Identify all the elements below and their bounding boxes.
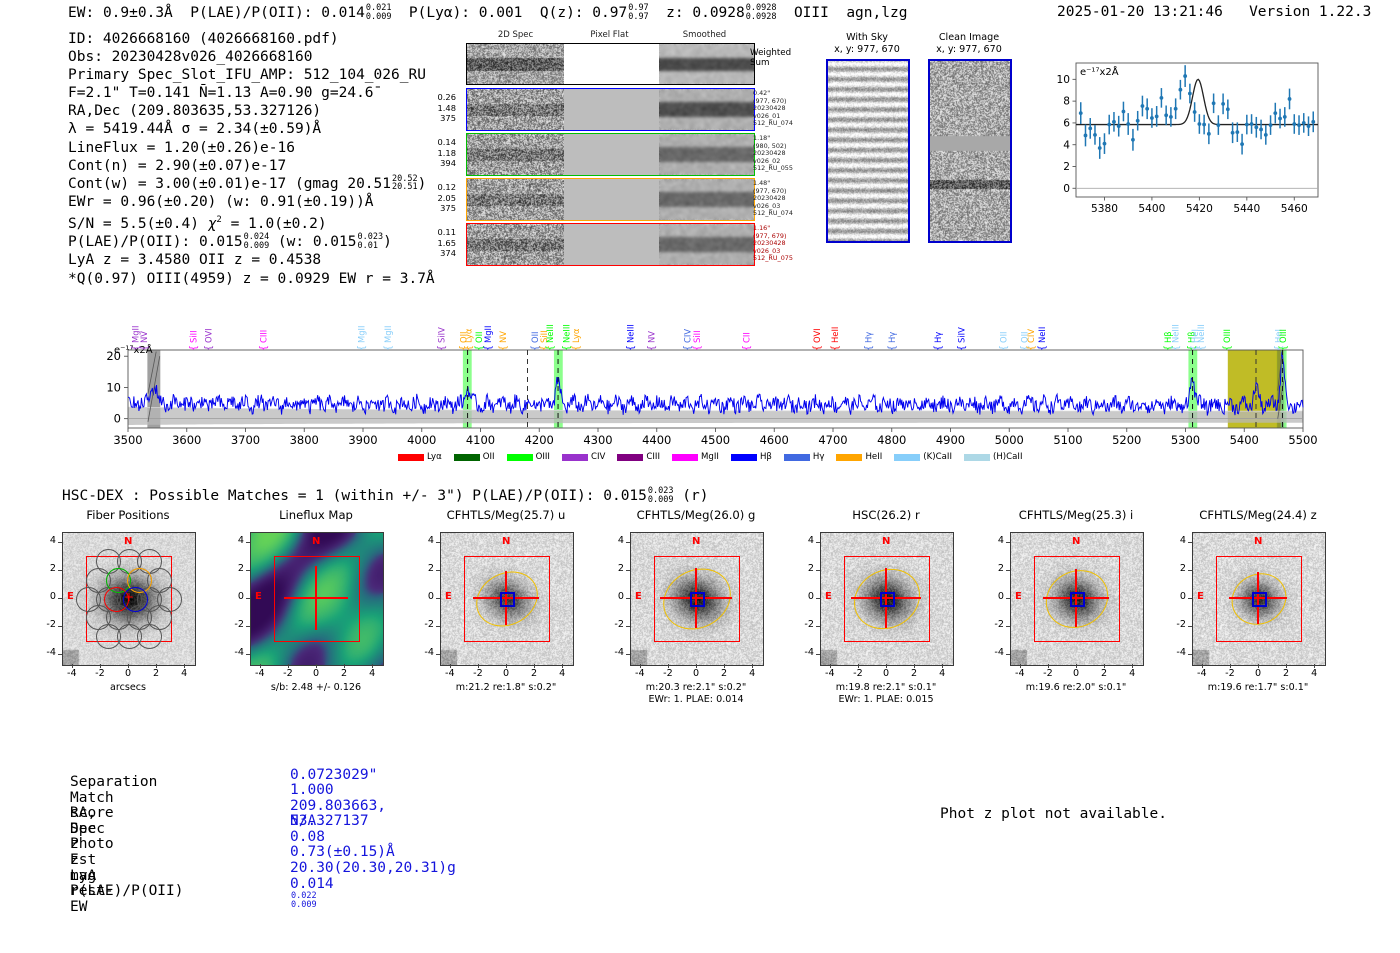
cutout-xtick: -2	[848, 668, 868, 679]
tick-mark	[626, 542, 630, 543]
col-header-2dspec: 2D Spec	[468, 30, 563, 40]
tick-mark	[626, 598, 630, 599]
cutout-caption-line1: m:19.6 re:2.0" s:0.1"	[984, 682, 1169, 694]
cutout-ytick: 0	[38, 591, 56, 602]
svg-text:3800: 3800	[290, 433, 319, 447]
svg-text:5420: 5420	[1186, 203, 1213, 215]
tick-mark	[696, 664, 697, 668]
svg-text:4: 4	[1063, 139, 1070, 151]
tick-mark	[436, 598, 440, 599]
legend-label: (H)CaII	[993, 452, 1023, 462]
tick-mark	[184, 664, 185, 668]
plae-label: P(LAE)/P(OII):	[190, 5, 312, 21]
cutout-panel: CFHTLS/Meg(25.7) uNE-4-2024420-2-4m:21.2…	[440, 532, 572, 724]
z-value: 0.0928	[692, 5, 744, 21]
target-marker	[690, 592, 705, 607]
emission-line-label: NV	[647, 331, 657, 343]
cutout-caption: m:20.3 re:2.1" s:0.2"EWr: 1. PLAE: 0.014	[604, 682, 789, 706]
info-cont-w: Cont(w) = 3.00(±0.01)e-17 (gmag 20.5120.…	[68, 175, 435, 193]
tick-mark	[72, 664, 73, 668]
tick-mark	[914, 664, 915, 668]
tick-mark	[246, 542, 250, 543]
flags: agn,lzg	[846, 5, 907, 21]
cutout-xtick: 4	[1122, 668, 1142, 679]
tick-mark	[1006, 598, 1010, 599]
svg-text:3900: 3900	[348, 433, 377, 447]
tick-mark	[562, 664, 563, 668]
tick-mark	[156, 664, 157, 668]
tick-mark	[316, 664, 317, 668]
match-table-value: 0.0140.0220.009	[290, 877, 334, 910]
with-sky-image	[826, 59, 910, 243]
cutout-title: HSC(26.2) r	[798, 508, 974, 522]
tick-mark	[478, 664, 479, 668]
target-marker	[1252, 592, 1267, 607]
info-cont-n: Cont(n) = 2.90(±0.07)e-17	[68, 157, 435, 175]
svg-text:5000: 5000	[995, 433, 1024, 447]
cutout-panel: CFHTLS/Meg(25.3) iNE-4-2024420-2-4m:19.6…	[1010, 532, 1142, 724]
cutout-ytick: 0	[416, 591, 434, 602]
info-ewr: EWr = 0.96(±0.20) (w: 0.91(±0.19))Å	[68, 193, 435, 211]
tick-mark	[506, 664, 507, 668]
cutout-xtick: 2	[714, 668, 734, 679]
cutout-title: CFHTLS/Meg(24.4) z	[1170, 508, 1346, 522]
cutout-ytick: 4	[1168, 535, 1186, 546]
plae-value: 0.014	[321, 5, 365, 21]
cutout-xtick: 2	[146, 668, 166, 679]
svg-text:4800: 4800	[877, 433, 906, 447]
emission-line-label: NV	[139, 331, 149, 343]
spec2d-fiber-row	[466, 88, 755, 131]
tick-mark	[1132, 664, 1133, 668]
hsc-plae-errors: 0.0230.009	[648, 487, 674, 504]
fiber-row-meta: 1.18"(980, 502)20230428v026_02512_RU_055	[753, 135, 803, 173]
cutout-xtick: -2	[1038, 668, 1058, 679]
tick-mark	[246, 626, 250, 627]
emission-line-label: NeIII	[1171, 324, 1181, 343]
fiber-number: 2.05	[430, 193, 456, 204]
fiber-number: 0.12	[430, 182, 456, 193]
fiber-meta-line: 512_RU_055	[753, 165, 803, 173]
tick-mark	[1188, 654, 1192, 655]
fiber-meta-line: 512_RU_075	[753, 255, 803, 263]
cutout-ytick: -4	[1168, 647, 1186, 658]
legend-swatch	[507, 454, 533, 461]
cutout-title: CFHTLS/Meg(25.7) u	[418, 508, 594, 522]
emission-line-label: MgII	[483, 326, 493, 343]
svg-text:0: 0	[114, 412, 121, 426]
cutout-caption-line1: m:19.6 re:1.7" s:0.1"	[1166, 682, 1351, 694]
cutout-ytick: 2	[796, 563, 814, 574]
info-lineflux: LineFlux = 1.20(±0.26)e-16	[68, 139, 435, 157]
cutout-ytick: 0	[986, 591, 1004, 602]
tick-mark	[436, 570, 440, 571]
line-brace: {	[933, 345, 944, 351]
line-brace: {	[204, 345, 215, 351]
tick-mark	[816, 654, 820, 655]
compass-north: N	[312, 536, 320, 547]
cutout-ytick: 4	[38, 535, 56, 546]
cutout-xtick: -4	[250, 668, 270, 679]
plae-errors-detail: 0.0240.009	[244, 233, 270, 250]
crosshair-horizontal	[284, 597, 348, 598]
tick-mark	[58, 570, 62, 571]
cutout-caption: arcsecs	[36, 682, 221, 694]
tick-mark	[1188, 598, 1192, 599]
fiber-number: 0.11	[430, 227, 456, 238]
hsc-dex-line: HSC-DEX : Possible Matches = 1 (within +…	[62, 487, 708, 504]
legend-entry: Hγ	[784, 452, 825, 462]
svg-text:4000: 4000	[407, 433, 436, 447]
tick-mark	[1048, 664, 1049, 668]
fiber-number: 375	[430, 113, 456, 124]
tick-mark	[752, 664, 753, 668]
z-errors: 0.09280.0928	[746, 4, 777, 21]
svg-text:5400: 5400	[1138, 203, 1165, 215]
info-sn: S/N = 5.5(±0.4) χ2 = 1.0(±0.2)	[68, 211, 435, 233]
fiber-row-numbers: 0.122.05375	[430, 182, 456, 214]
cutout-caption-line1: m:20.3 re:2.1" s:0.2"	[604, 682, 789, 694]
cutout-ytick: 2	[1168, 563, 1186, 574]
tick-mark	[260, 664, 261, 668]
line-brace: {	[188, 345, 199, 351]
line-brace: {	[741, 345, 752, 351]
col-header-smoothed: Smoothed	[657, 30, 752, 40]
compass-north: N	[502, 536, 510, 547]
target-plus-marker: +	[124, 590, 134, 604]
object-info-block: ID: 4026668160 (4026668160.pdf) Obs: 202…	[68, 30, 435, 288]
tick-mark	[724, 664, 725, 668]
line-brace: {	[647, 345, 658, 351]
tick-mark	[246, 654, 250, 655]
legend-entry: CIV	[562, 452, 605, 462]
cutout-xtick: 4	[932, 668, 952, 679]
cutout-xtick: -2	[278, 668, 298, 679]
fiber-number: 0.26	[430, 92, 456, 103]
info-seeing: F=2.1" T=0.141 N̄=1.1̄3 A=0.9̄0 g=24.6̄	[68, 84, 435, 102]
plae-w-errors: 0.0230.01	[358, 233, 384, 250]
legend-label: Lyα	[427, 452, 442, 462]
match-table-value: 0.73(±0.15)Å	[290, 845, 395, 861]
cutout-ytick: -2	[796, 619, 814, 630]
tick-mark	[246, 598, 250, 599]
fiber-meta-line: 512_RU_074	[753, 120, 803, 128]
cutout-ytick: -2	[226, 619, 244, 630]
tick-mark	[436, 542, 440, 543]
legend-entry: (K)CaII	[894, 452, 952, 462]
cutout-ytick: -2	[1168, 619, 1186, 630]
cutout-title: Lineflux Map	[228, 508, 404, 522]
tick-mark	[886, 664, 887, 668]
full-spectrum-chart: 0102035003600370038003900400041004200430…	[0, 278, 1400, 478]
cutout-caption: m:19.6 re:1.7" s:0.1"	[1166, 682, 1351, 694]
emission-line-label: NeIII	[545, 324, 555, 343]
fiber-number: 1.48	[430, 103, 456, 114]
tick-mark	[344, 664, 345, 668]
cutout-caption: m:21.2 re:1.8" s:0.2"	[414, 682, 599, 694]
legend-label: HeII	[865, 452, 882, 462]
tick-mark	[858, 664, 859, 668]
cutout-ytick: 0	[796, 591, 814, 602]
cutout-xtick: 0	[1066, 668, 1086, 679]
emission-line-label: Lyα	[571, 328, 581, 343]
legend-swatch	[672, 454, 698, 461]
tick-mark	[436, 626, 440, 627]
line-brace: {	[1171, 345, 1182, 351]
svg-text:5380: 5380	[1091, 203, 1118, 215]
cutout-ytick: -4	[226, 647, 244, 658]
fiber-circle	[137, 624, 162, 649]
cutout-caption-line2: EWr: 1. PLAE: 0.014	[604, 694, 789, 706]
cutout-panel: CFHTLS/Meg(24.4) zNE-4-2024420-2-4m:19.6…	[1192, 532, 1324, 724]
info-id: ID: 4026668160 (4026668160.pdf)	[68, 30, 435, 48]
target-marker	[1070, 592, 1085, 607]
tick-mark	[1104, 664, 1105, 668]
cutout-xtick: 0	[118, 668, 138, 679]
line-brace: {	[483, 345, 494, 351]
cutout-xtick: -4	[630, 668, 650, 679]
match-table-label: Separation	[70, 775, 157, 791]
cutout-title: CFHTLS/Meg(26.0) g	[608, 508, 784, 522]
timestamp-block: 2025-01-20 13:21:46 Version 1.22.3	[1057, 4, 1371, 20]
legend-label: (K)CaII	[923, 452, 952, 462]
emission-line-label: MgII	[383, 326, 393, 343]
tick-mark	[58, 598, 62, 599]
emission-line-label: OVI	[204, 328, 214, 343]
clean-image	[928, 59, 1012, 243]
emission-line-label: Hγ	[887, 332, 897, 343]
match-plae-errors: 0.0220.009	[291, 892, 317, 909]
match-table-value: 20.30(20.30,20.31)g	[290, 861, 456, 877]
tick-mark	[58, 654, 62, 655]
fiber-number: 1.18	[430, 148, 456, 159]
legend-swatch	[454, 454, 480, 461]
tick-mark	[372, 664, 373, 668]
line-brace: {	[1196, 345, 1207, 351]
fiber-row-meta: 1.16"(977, 679)20230428v026_03512_RU_075	[753, 225, 803, 263]
inset-flux-units: e⁻¹⁷x2Å	[1080, 65, 1119, 78]
version: Version 1.22.3	[1249, 4, 1371, 20]
legend-entry: OIII	[507, 452, 550, 462]
legend-label: OII	[483, 452, 495, 462]
tick-mark	[58, 626, 62, 627]
emission-line-label: MgII	[356, 326, 366, 343]
emission-line-label: HeII	[830, 327, 840, 343]
tick-mark	[942, 664, 943, 668]
svg-text:0: 0	[1063, 183, 1070, 195]
cutout-caption-line2: EWr: 1. PLAE: 0.015	[794, 694, 979, 706]
emission-line-label: NeIII	[1196, 324, 1206, 343]
cutout-ytick: -4	[38, 647, 56, 658]
cutout-panel: Fiber PositionsNE+-4-2024420-2-4arcsecs	[62, 532, 194, 724]
ew-value: 0.9±0.3Å	[103, 5, 173, 21]
cutout-ytick: 2	[226, 563, 244, 574]
line-brace: {	[999, 345, 1010, 351]
weighted-sum-label: Weighted Sum	[750, 48, 791, 68]
tick-mark	[816, 626, 820, 627]
emission-line-label: CIII	[258, 330, 268, 343]
emission-line-label: Hγ	[933, 332, 943, 343]
line-brace: {	[139, 345, 150, 351]
svg-text:4700: 4700	[818, 433, 847, 447]
tick-mark	[1006, 570, 1010, 571]
cutout-xtick: 0	[1248, 668, 1268, 679]
cutout-title: Fiber Positions	[40, 508, 216, 522]
compass-north: N	[882, 536, 890, 547]
legend-entry: Hβ	[731, 452, 772, 462]
line-brace: {	[571, 345, 582, 351]
emission-line-label: CIV	[1026, 329, 1036, 343]
tick-mark	[1188, 570, 1192, 571]
cutout-xtick: -2	[90, 668, 110, 679]
svg-text:4100: 4100	[466, 433, 495, 447]
z-label: z:	[666, 5, 683, 21]
plae-errors: 0.0210.009	[366, 4, 392, 21]
line-brace: {	[463, 345, 474, 351]
timestamp: 2025-01-20 13:21:46	[1057, 4, 1223, 20]
plya-value: 0.001	[479, 5, 523, 21]
tick-mark	[1230, 664, 1231, 668]
svg-text:8: 8	[1063, 96, 1070, 108]
cutout-xtick: 2	[334, 668, 354, 679]
line-brace: {	[436, 345, 447, 351]
compass-east: E	[825, 591, 832, 602]
cutout-xtick: 0	[686, 668, 706, 679]
spec2d-fiber-row	[466, 223, 755, 266]
line-brace: {	[1222, 345, 1233, 351]
svg-text:5500: 5500	[1288, 433, 1317, 447]
cutout-ytick: -4	[796, 647, 814, 658]
legend-swatch	[398, 454, 424, 461]
cutout-caption-line1: m:19.8 re:2.1" s:0.1"	[794, 682, 979, 694]
cutout-ytick: 4	[416, 535, 434, 546]
emission-line-label: NV	[498, 331, 508, 343]
fiber-meta-line: 512_RU_074	[753, 210, 803, 218]
emission-line-label: OII	[999, 331, 1009, 343]
cutout-ytick: 0	[606, 591, 624, 602]
cutout-xtick: -2	[468, 668, 488, 679]
line-brace: {	[383, 345, 394, 351]
fiber-row-numbers: 0.141.18394	[430, 137, 456, 169]
tick-mark	[1286, 664, 1287, 668]
tick-mark	[1076, 664, 1077, 668]
tick-mark	[450, 664, 451, 668]
emission-line-label: OIII	[1278, 329, 1288, 343]
match-table-value: 1.000	[290, 783, 334, 799]
tick-mark	[246, 570, 250, 571]
fiber-number: 0.14	[430, 137, 456, 148]
svg-text:4900: 4900	[936, 433, 965, 447]
cutout-ytick: 2	[606, 563, 624, 574]
spec2d-weighted-sum-row	[466, 43, 755, 85]
line-brace: {	[956, 345, 967, 351]
full-spectrum-svg: 0102035003600370038003900400041004200430…	[0, 278, 1400, 478]
svg-text:3600: 3600	[172, 433, 201, 447]
compass-east: E	[1015, 591, 1022, 602]
line-brace: {	[692, 345, 703, 351]
legend-label: CIII	[646, 452, 660, 462]
plya-label: P(Lyα):	[409, 5, 470, 21]
legend-entry: OII	[454, 452, 495, 462]
ew-label: EW:	[68, 5, 94, 21]
tick-mark	[640, 664, 641, 668]
tick-mark	[1314, 664, 1315, 668]
compass-north: N	[1254, 536, 1262, 547]
legend-label: Hγ	[813, 452, 825, 462]
match-table-value: N/A	[290, 814, 316, 830]
compass-north: N	[692, 536, 700, 547]
spec2d-fiber-row	[466, 178, 755, 221]
tick-mark	[534, 664, 535, 668]
match-table-label: mag	[70, 869, 96, 885]
legend-label: MgII	[701, 452, 719, 462]
emission-line-label: NeII	[1037, 327, 1047, 343]
tick-mark	[816, 542, 820, 543]
fiber-number: 375	[430, 203, 456, 214]
target-marker	[500, 592, 515, 607]
svg-text:3700: 3700	[231, 433, 260, 447]
qz-label: Q(z):	[540, 5, 584, 21]
cutout-panel: Lineflux MapNE-4-2024420-2-4s/b: 2.48 +/…	[250, 532, 382, 724]
tick-mark	[816, 598, 820, 599]
compass-east: E	[67, 591, 74, 602]
line-brace: {	[887, 345, 898, 351]
legend-swatch	[617, 454, 643, 461]
tick-mark	[1188, 542, 1192, 543]
cutout-xtick: -2	[1220, 668, 1240, 679]
tick-mark	[1188, 626, 1192, 627]
tick-mark	[626, 570, 630, 571]
fiber-number: 374	[430, 248, 456, 259]
svg-text:6: 6	[1063, 118, 1070, 130]
line-brace: {	[545, 345, 556, 351]
svg-text:5100: 5100	[1053, 433, 1082, 447]
tick-mark	[1006, 626, 1010, 627]
compass-north: N	[1072, 536, 1080, 547]
legend-entry: Lyα	[398, 452, 442, 462]
cutout-xtick: 4	[1304, 668, 1324, 679]
legend-label: CIV	[591, 452, 605, 462]
cutout-xtick: -2	[658, 668, 678, 679]
legend-entry: HeII	[836, 452, 882, 462]
line-zoom-spectrum-chart: 024681053805400542054405460e⁻¹⁷x2Å	[1036, 53, 1326, 223]
header-topline: EW: 0.9±0.3Å P(LAE)/P(OII): 0.0140.0210.…	[68, 4, 907, 21]
tick-mark	[830, 664, 831, 668]
cutout-xtick: 0	[496, 668, 516, 679]
tick-mark	[58, 542, 62, 543]
cutout-ytick: -4	[416, 647, 434, 658]
svg-text:4200: 4200	[525, 433, 554, 447]
cutout-caption: m:19.6 re:2.0" s:0.1"	[984, 682, 1169, 694]
cutout-panel: HSC(26.2) rNE-4-2024420-2-4m:19.8 re:2.1…	[820, 532, 952, 724]
spectrum-legend: LyαOIIOIIICIVCIIIMgIIHβHγHeII(K)CaII(H)C…	[398, 452, 1030, 462]
cutout-xtick: 4	[742, 668, 762, 679]
cleanimage-title: Clean Imagex, y: 977, 670	[922, 32, 1016, 56]
compass-east: E	[255, 591, 262, 602]
svg-text:10: 10	[106, 380, 121, 394]
compass-east: E	[445, 591, 452, 602]
tick-mark	[816, 570, 820, 571]
cutout-xtick: 4	[362, 668, 382, 679]
cutout-panel: CFHTLS/Meg(26.0) gNE-4-2024420-2-4m:20.3…	[630, 532, 762, 724]
cutout-ytick: -2	[416, 619, 434, 630]
fiber-number: 394	[430, 158, 456, 169]
emission-line-label: NeIII	[626, 324, 636, 343]
cutout-xtick: -4	[1010, 668, 1030, 679]
tick-mark	[1006, 654, 1010, 655]
emission-line-label: SiIV	[436, 327, 446, 343]
svg-text:5440: 5440	[1233, 203, 1260, 215]
